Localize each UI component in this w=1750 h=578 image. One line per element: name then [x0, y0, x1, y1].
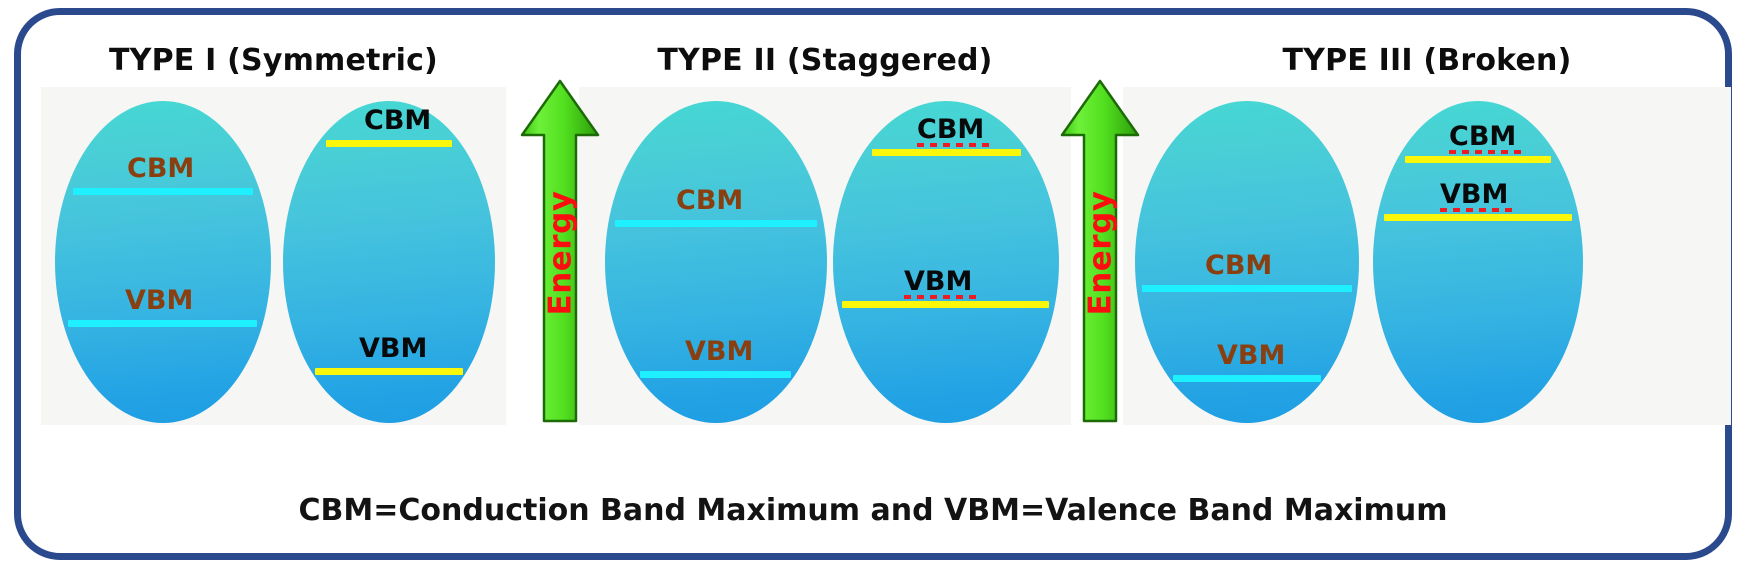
band-label-vbm: VBM [1440, 181, 1508, 208]
band-label-cbm: CBM [1449, 123, 1516, 150]
band-alignment-panel: TYPE III (Broken)CBMVBMCBMVBM [1123, 87, 1731, 425]
band-label-cbm: CBM [364, 107, 431, 134]
band-label-vbm: VBM [685, 338, 753, 365]
semiconductor-bubble: CBMVBM [283, 101, 495, 423]
semiconductor-bubble: CBMVBM [1135, 101, 1359, 423]
band-alignment-panel: TYPE I (Symmetric)CBMVBMCBMVBM [41, 87, 506, 425]
band-edge-line-vbm [68, 320, 257, 327]
diagram-frame: TYPE I (Symmetric)CBMVBMCBMVBMTYPE II (S… [14, 8, 1732, 560]
band-label-vbm: VBM [125, 287, 193, 314]
energy-axis-arrow-icon: Energy [518, 77, 602, 429]
energy-axis-arrow-icon: Energy [1058, 77, 1142, 429]
band-label-vbm: VBM [1217, 342, 1285, 369]
band-edge-line-vbm [640, 371, 791, 378]
band-edge-line-cbm [1405, 156, 1551, 163]
band-edge-line-cbm [73, 188, 253, 195]
band-label-vbm: VBM [904, 268, 972, 295]
semiconductor-bubble: CBMVBM [833, 101, 1059, 423]
semiconductor-bubble: CBMVBM [1373, 101, 1583, 423]
band-label-underline [917, 143, 991, 147]
band-label-cbm: CBM [917, 116, 984, 143]
energy-arrow-label: Energy [542, 191, 578, 316]
panel-title: TYPE I (Symmetric) [41, 43, 506, 78]
figure-caption: CBM=Conduction Band Maximum and VBM=Vale… [21, 493, 1725, 528]
band-label-cbm: CBM [676, 187, 743, 214]
band-edge-line-cbm [326, 140, 452, 147]
band-label-cbm: CBM [127, 155, 194, 182]
panel-title: TYPE III (Broken) [1123, 43, 1731, 78]
semiconductor-bubble: CBMVBM [55, 101, 271, 423]
band-alignment-panel: TYPE II (Staggered)CBMVBMCBMVBM [579, 87, 1071, 425]
energy-arrow-text-wrap: Energy [1058, 77, 1142, 429]
diagram-stage: TYPE I (Symmetric)CBMVBMCBMVBMTYPE II (S… [41, 87, 1731, 425]
energy-arrow-text-wrap: Energy [518, 77, 602, 429]
band-edge-line-vbm [315, 368, 463, 375]
energy-arrow-label: Energy [1082, 191, 1118, 316]
band-edge-line-cbm [615, 220, 817, 227]
band-edge-line-vbm [1384, 214, 1572, 221]
band-edge-line-cbm [1142, 285, 1352, 292]
band-edge-line-cbm [872, 149, 1021, 156]
band-label-vbm: VBM [359, 335, 427, 362]
band-label-cbm: CBM [1205, 252, 1272, 279]
band-edge-line-vbm [1173, 375, 1321, 382]
band-label-underline [1440, 208, 1514, 212]
band-label-underline [904, 295, 978, 299]
panel-title: TYPE II (Staggered) [579, 43, 1071, 78]
semiconductor-bubble: CBMVBM [605, 101, 827, 423]
band-edge-line-vbm [842, 301, 1049, 308]
band-label-underline [1449, 150, 1523, 154]
